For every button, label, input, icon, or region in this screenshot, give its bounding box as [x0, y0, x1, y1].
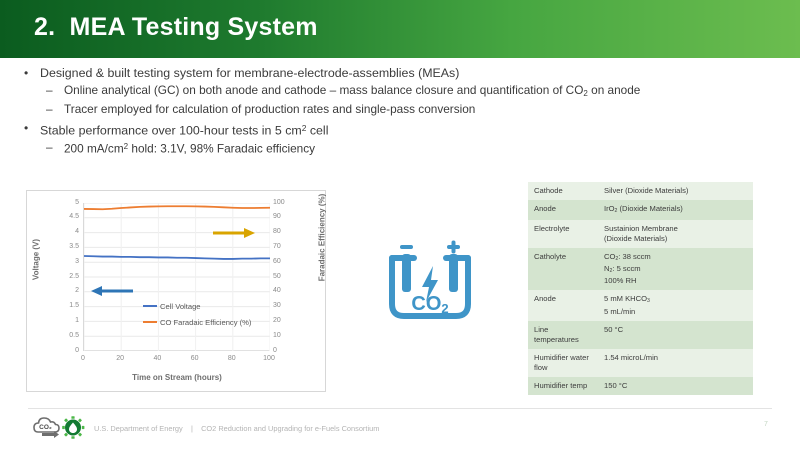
- table-cell-value: 50 °C: [598, 321, 753, 349]
- chart-xtick: 20: [108, 355, 132, 362]
- table-row: AnodeIrO2 (Dioxide Materials): [528, 200, 753, 220]
- chart-ytick-left: 2: [55, 287, 79, 294]
- plus-sign-icon: [447, 241, 460, 254]
- chart-ytick-right: 60: [273, 258, 297, 265]
- left-axis-arrow-icon: [89, 284, 135, 298]
- chart-yaxis-left-title: Voltage (V): [32, 220, 41, 300]
- table-cell-value: Silver (Dioxide Materials): [598, 182, 753, 200]
- anode-electrode-icon: [449, 254, 458, 292]
- chart-ytick-right: 100: [273, 199, 297, 206]
- right-axis-arrow-icon: [211, 226, 257, 240]
- legend-label-0: Cell Voltage: [160, 302, 201, 311]
- table-cell-parameter: Line temperatures: [528, 321, 598, 349]
- chart-legend-cell-voltage: Cell Voltage: [143, 302, 201, 311]
- bullet-text-5a: 200 mA/cm: [64, 142, 124, 156]
- footer-divider: [28, 408, 772, 409]
- table-row: Line temperatures50 °C: [528, 321, 753, 349]
- table-row: Humidifier temp150 °C: [528, 377, 753, 395]
- table-row: Humidifier water flow1.54 microL/min: [528, 349, 753, 377]
- chart-ytick-right: 20: [273, 317, 297, 324]
- bullet-item-1: • Designed & built testing system for me…: [12, 66, 792, 81]
- bullet-item-3: – Tracer employed for calculation of pro…: [12, 102, 792, 117]
- chart-ytick-right: 80: [273, 228, 297, 235]
- table-cell-value: CO2: 38 sccmN2: 5 sccm100% RH: [598, 248, 753, 290]
- legend-label-1: CO Faradaic Efficiency (%): [160, 318, 251, 327]
- co2-logo-text: CO₂: [39, 424, 52, 431]
- footer-caption: U.S. Department of Energy | CO2 Reductio…: [94, 424, 379, 433]
- chart-xtick: 100: [257, 355, 281, 362]
- stability-chart: 00.511.522.533.544.55 010203040506070809…: [26, 190, 326, 392]
- chart-ytick-left: 4.5: [55, 213, 79, 220]
- table-cell-parameter: Catholyte: [528, 248, 598, 290]
- chart-xtick: 80: [220, 355, 244, 362]
- table-cell-value: IrO2 (Dioxide Materials): [598, 200, 753, 220]
- legend-swatch-icon: [143, 305, 157, 307]
- chart-yaxis-right-title: Faradaic Efficiency (%): [318, 183, 327, 293]
- chart-xtick: 60: [183, 355, 207, 362]
- co2-label: CO2: [411, 293, 448, 316]
- table-cell-value: Sustainion Membrane(Dioxide Materials): [598, 220, 753, 248]
- table-row: Anode5 mM KHCO35 mL/min: [528, 290, 753, 320]
- chart-ytick-left: 5: [55, 199, 79, 206]
- table-row: ElectrolyteSustainion Membrane(Dioxide M…: [528, 220, 753, 248]
- bullet-item-2: – Online analytical (GC) on both anode a…: [12, 83, 792, 101]
- minus-sign-icon: [400, 245, 413, 249]
- cathode-electrode-icon: [402, 254, 411, 292]
- bullet-marker-dash: –: [46, 83, 53, 98]
- chart-ytick-left: 1.5: [55, 302, 79, 309]
- chart-ytick-right: 90: [273, 213, 297, 220]
- table-cell-parameter: Humidifier water flow: [528, 349, 598, 377]
- bullet-marker-dash: –: [46, 102, 53, 117]
- chart-xaxis-title: Time on Stream (hours): [27, 373, 327, 382]
- bullet-item-4: • Stable performance over 100-hour tests…: [12, 121, 792, 139]
- bullet-text-4b: cell: [306, 123, 328, 137]
- chart-ytick-left: 3: [55, 258, 79, 265]
- table-row: CathodeSilver (Dioxide Materials): [528, 182, 753, 200]
- bullet-list: • Designed & built testing system for me…: [12, 66, 792, 157]
- chart-ytick-right: 30: [273, 302, 297, 309]
- chart-ytick-right: 50: [273, 273, 297, 280]
- chart-ytick-right: 10: [273, 332, 297, 339]
- table-cell-parameter: Electrolyte: [528, 220, 598, 248]
- chart-ytick-left: 0.5: [55, 332, 79, 339]
- slide: 2. MEA Testing System • Designed & built…: [0, 0, 800, 450]
- chart-series-line-0: [84, 256, 270, 259]
- bullet-text-1: Designed & built testing system for memb…: [40, 66, 459, 80]
- table-cell-value: 5 mM KHCO35 mL/min: [598, 290, 753, 320]
- co2-electrolyzer-icon: CO2: [378, 228, 482, 332]
- bullet-text-4a: Stable performance over 100-hour tests i…: [40, 123, 302, 137]
- table-cell-value: 150 °C: [598, 377, 753, 395]
- table-cell-parameter: Anode: [528, 200, 598, 220]
- chart-ytick-left: 0: [55, 347, 79, 354]
- table-cell-value: 1.54 microL/min: [598, 349, 753, 377]
- bullet-text-2a: Online analytical (GC) on both anode and…: [64, 83, 583, 97]
- chart-ytick-left: 2.5: [55, 273, 79, 280]
- bullet-item-5: – 200 mA/cm2 hold: 3.1V, 98% Faradaic ef…: [12, 140, 792, 156]
- bullet-marker-dot: •: [24, 121, 28, 136]
- table-row: CatholyteCO2: 38 sccmN2: 5 sccm100% RH: [528, 248, 753, 290]
- legend-swatch-icon: [143, 321, 157, 323]
- chart-ytick-left: 3.5: [55, 243, 79, 250]
- chart-xtick: 40: [145, 355, 169, 362]
- chart-ytick-left: 4: [55, 228, 79, 235]
- chart-ytick-left: 1: [55, 317, 79, 324]
- chart-ytick-right: 0: [273, 347, 297, 354]
- chart-xtick: 0: [71, 355, 95, 362]
- table-cell-parameter: Cathode: [528, 182, 598, 200]
- bullet-text-3: Tracer employed for calculation of produ…: [64, 102, 475, 116]
- consortium-logo: CO₂: [32, 414, 88, 442]
- page-number: 7: [756, 421, 776, 428]
- table-cell-parameter: Humidifier temp: [528, 377, 598, 395]
- table-cell-parameter: Anode: [528, 290, 598, 320]
- bullet-marker-dot: •: [24, 66, 28, 81]
- slide-header-banner: 2. MEA Testing System: [0, 0, 800, 58]
- bullet-marker-dash: –: [46, 140, 53, 155]
- chart-ytick-right: 70: [273, 243, 297, 250]
- chart-ytick-right: 40: [273, 287, 297, 294]
- bullet-text-2b: on anode: [588, 83, 640, 97]
- bullet-text-5b: hold: 3.1V, 98% Faradaic efficiency: [128, 142, 315, 156]
- chart-series-line-1: [84, 206, 270, 209]
- chart-legend-faradaic-efficiency: CO Faradaic Efficiency (%): [143, 318, 251, 327]
- experimental-conditions-table: CathodeSilver (Dioxide Materials)AnodeIr…: [528, 182, 753, 395]
- page-title: 2. MEA Testing System: [34, 13, 318, 42]
